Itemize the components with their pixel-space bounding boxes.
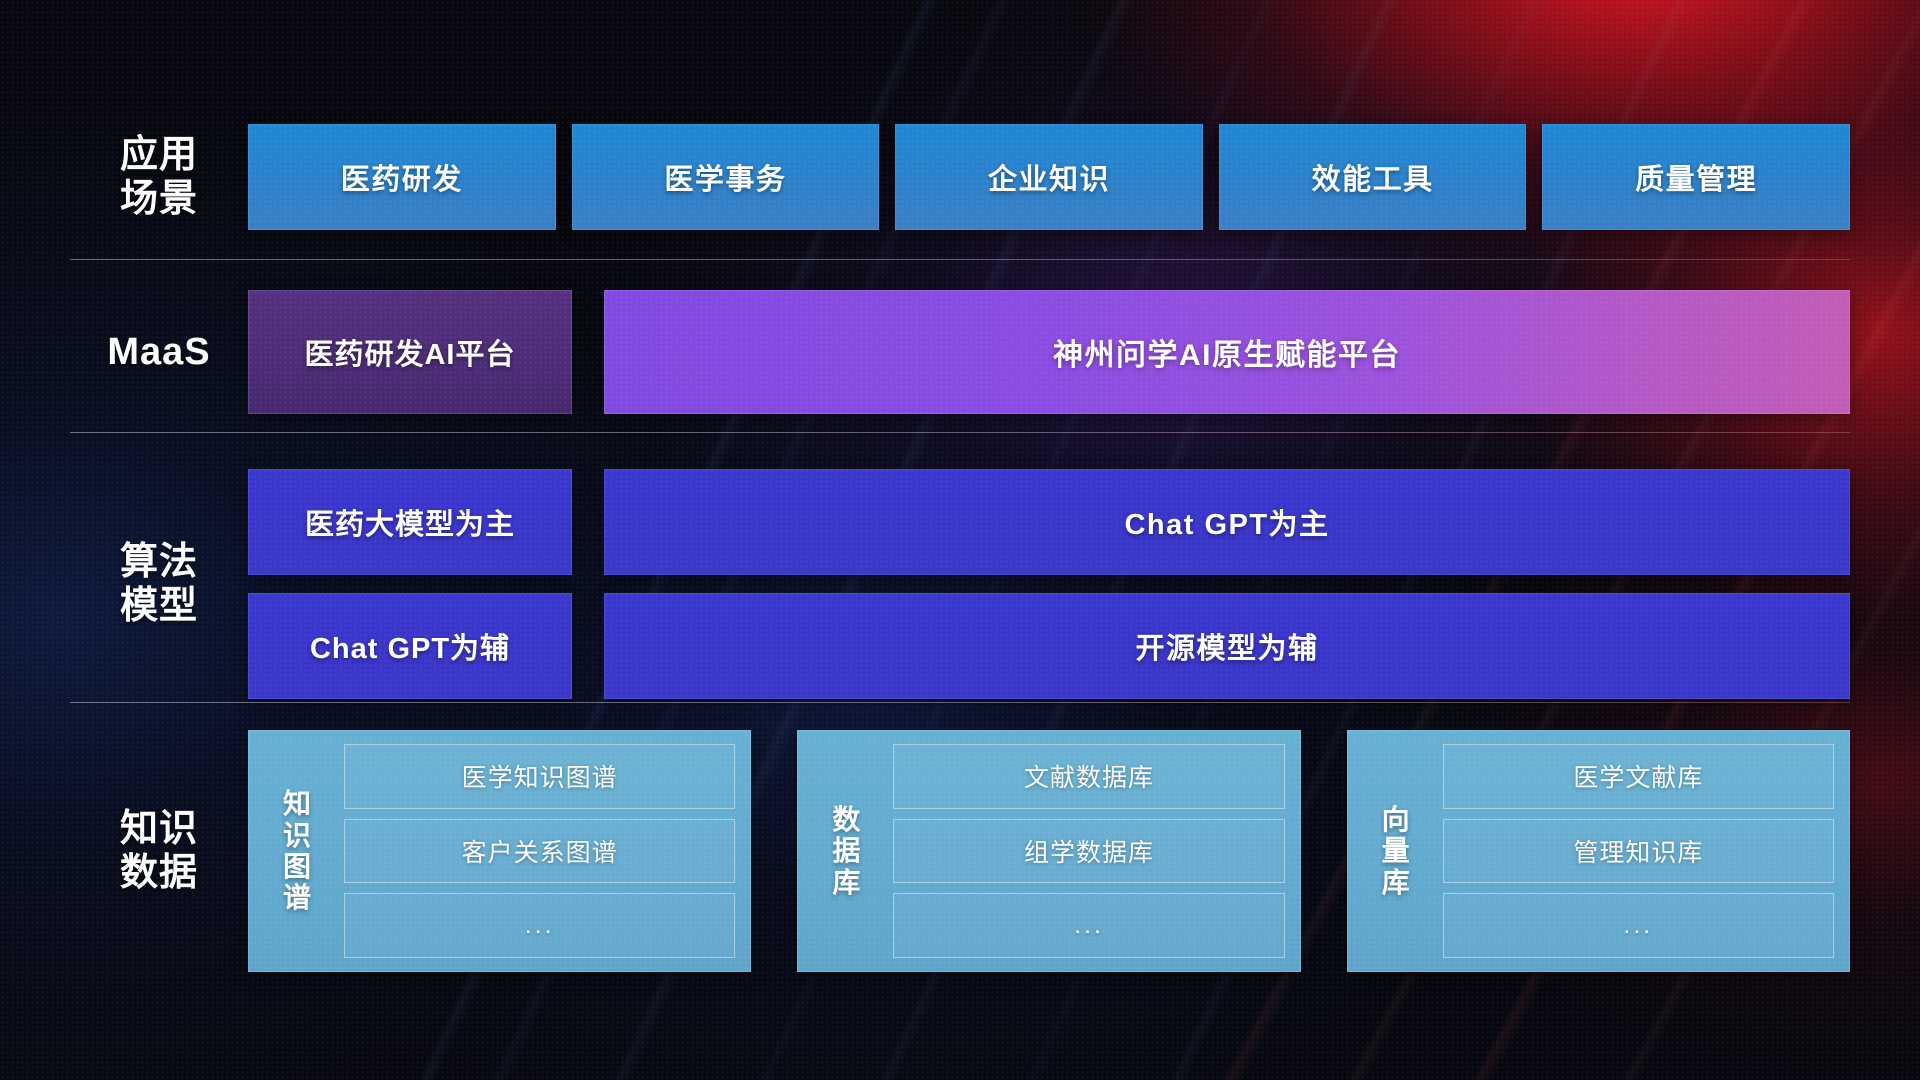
knowledge-item-medical-literature-store[interactable]: 医学文献库 xyxy=(1443,744,1834,809)
app-box-pharma-rd[interactable]: 医药研发 xyxy=(248,124,556,230)
algo-box-opensource-secondary[interactable]: 开源模型为辅 xyxy=(604,593,1850,699)
category-char: 据 xyxy=(832,835,860,866)
divider-maas-algorithm xyxy=(70,432,1850,433)
app-box-label: 效能工具 xyxy=(1312,156,1434,198)
knowledge-item-label: ... xyxy=(1074,911,1104,940)
row-label-application: 应用 场景 xyxy=(70,133,248,221)
category-char: 知 xyxy=(283,788,311,819)
row-application-scenarios: 应用 场景 医药研发 医学事务 企业知识 效能工具 质量管理 xyxy=(70,122,1850,232)
category-char: 向 xyxy=(1382,804,1410,835)
row-label-maas: MaaS xyxy=(70,330,248,374)
app-box-quality-management[interactable]: 质量管理 xyxy=(1542,124,1850,230)
algo-box-pharma-large-model-primary[interactable]: 医药大模型为主 xyxy=(248,469,572,575)
app-box-label: 医学事务 xyxy=(664,156,786,198)
knowledge-group-vector-store[interactable]: 向 量 库 医学文献库 管理知识库 ... xyxy=(1347,730,1850,972)
category-char: 识 xyxy=(283,820,311,851)
app-box-label: 医药研发 xyxy=(341,156,463,198)
row-label-knowledge: 知识 数据 xyxy=(70,807,248,895)
category-char: 库 xyxy=(1382,867,1410,898)
row-algorithm-model: 算法 模型 医药大模型为主 Chat GPT为主 Chat GPT为辅 xyxy=(70,464,1850,704)
knowledge-item-label: 客户关系图谱 xyxy=(462,833,618,869)
category-char: 数 xyxy=(832,804,860,835)
knowledge-item-medical-knowledge-graph[interactable]: 医学知识图谱 xyxy=(344,744,735,809)
knowledge-item-label: 医学知识图谱 xyxy=(462,758,618,794)
knowledge-item-label: 医学文献库 xyxy=(1573,758,1703,794)
architecture-diagram-canvas: 应用 场景 医药研发 医学事务 企业知识 效能工具 质量管理 xyxy=(0,0,1920,1080)
knowledge-item-label: 文献数据库 xyxy=(1024,758,1154,794)
application-box-list: 医药研发 医学事务 企业知识 效能工具 质量管理 xyxy=(248,124,1850,230)
knowledge-group-category-label: 数 据 库 xyxy=(813,744,879,958)
knowledge-item-label: ... xyxy=(525,911,555,940)
category-char: 图 xyxy=(283,851,311,882)
knowledge-item-list: 文献数据库 组学数据库 ... xyxy=(893,744,1284,958)
knowledge-item-list: 医学知识图谱 客户关系图谱 ... xyxy=(344,744,735,958)
algo-box-label: 开源模型为辅 xyxy=(1135,625,1318,667)
row-label-knowledge-line2: 数据 xyxy=(70,851,248,895)
category-char: 谱 xyxy=(283,882,311,913)
knowledge-item-list: 医学文献库 管理知识库 ... xyxy=(1443,744,1834,958)
app-box-label: 企业知识 xyxy=(988,156,1110,198)
algorithm-line-secondary: Chat GPT为辅 开源模型为辅 xyxy=(248,593,1850,699)
algo-box-label: Chat GPT为主 xyxy=(1124,501,1329,543)
category-char: 库 xyxy=(832,867,860,898)
row-label-application-line1: 应用 xyxy=(70,133,248,177)
knowledge-item-label: 组学数据库 xyxy=(1024,833,1154,869)
algo-box-chatgpt-secondary[interactable]: Chat GPT为辅 xyxy=(248,593,572,699)
knowledge-item-label: 管理知识库 xyxy=(1573,833,1703,869)
row-label-application-line2: 场景 xyxy=(70,177,248,221)
knowledge-group-category-label: 知 识 图 谱 xyxy=(264,744,330,958)
app-box-medical-affairs[interactable]: 医学事务 xyxy=(572,124,880,230)
knowledge-group-category-label: 向 量 库 xyxy=(1363,744,1429,958)
app-box-label: 质量管理 xyxy=(1635,156,1757,198)
knowledge-group-knowledge-graph[interactable]: 知 识 图 谱 医学知识图谱 客户关系图谱 ... xyxy=(248,730,751,972)
knowledge-item-management-knowledge-store[interactable]: 管理知识库 xyxy=(1443,819,1834,884)
knowledge-item-more[interactable]: ... xyxy=(1443,893,1834,958)
knowledge-item-more[interactable]: ... xyxy=(344,893,735,958)
knowledge-item-customer-relation-graph[interactable]: 客户关系图谱 xyxy=(344,819,735,884)
diagram-body: 应用 场景 医药研发 医学事务 企业知识 效能工具 质量管理 xyxy=(0,0,1920,1080)
divider-algorithm-knowledge xyxy=(70,702,1850,703)
algo-box-label: 医药大模型为主 xyxy=(305,501,515,543)
knowledge-item-literature-database[interactable]: 文献数据库 xyxy=(893,744,1284,809)
maas-box-label: 神州问学AI原生赋能平台 xyxy=(1053,330,1401,374)
row-label-algorithm-line2: 模型 xyxy=(70,584,248,628)
row-knowledge-data: 知识 数据 知 识 图 谱 医学知识图谱 xyxy=(70,728,1850,974)
row-label-algorithm-line1: 算法 xyxy=(70,540,248,584)
algorithm-line-primary: 医药大模型为主 Chat GPT为主 xyxy=(248,469,1850,575)
knowledge-item-label: ... xyxy=(1623,911,1653,940)
app-box-enterprise-knowledge[interactable]: 企业知识 xyxy=(895,124,1203,230)
category-char: 量 xyxy=(1382,835,1410,866)
app-box-efficiency-tools[interactable]: 效能工具 xyxy=(1219,124,1527,230)
algorithm-box-list: 医药大模型为主 Chat GPT为主 Chat GPT为辅 开源模型为辅 xyxy=(248,469,1850,699)
row-label-knowledge-line1: 知识 xyxy=(70,807,248,851)
maas-box-list: 医药研发AI平台 神州问学AI原生赋能平台 xyxy=(248,290,1850,414)
algo-box-label: Chat GPT为辅 xyxy=(310,625,510,667)
divider-application-maas xyxy=(70,259,1850,260)
maas-box-label: 医药研发AI平台 xyxy=(304,331,515,373)
maas-box-shenzhou-wenxue-platform[interactable]: 神州问学AI原生赋能平台 xyxy=(604,290,1850,414)
knowledge-group-database[interactable]: 数 据 库 文献数据库 组学数据库 ... xyxy=(797,730,1300,972)
knowledge-item-omics-database[interactable]: 组学数据库 xyxy=(893,819,1284,884)
algo-box-chatgpt-primary[interactable]: Chat GPT为主 xyxy=(604,469,1850,575)
maas-box-pharma-ai-platform[interactable]: 医药研发AI平台 xyxy=(248,290,572,414)
knowledge-group-list: 知 识 图 谱 医学知识图谱 客户关系图谱 ... xyxy=(248,730,1850,972)
row-label-algorithm: 算法 模型 xyxy=(70,540,248,628)
row-maas: MaaS 医药研发AI平台 神州问学AI原生赋能平台 xyxy=(70,288,1850,416)
knowledge-item-more[interactable]: ... xyxy=(893,893,1284,958)
